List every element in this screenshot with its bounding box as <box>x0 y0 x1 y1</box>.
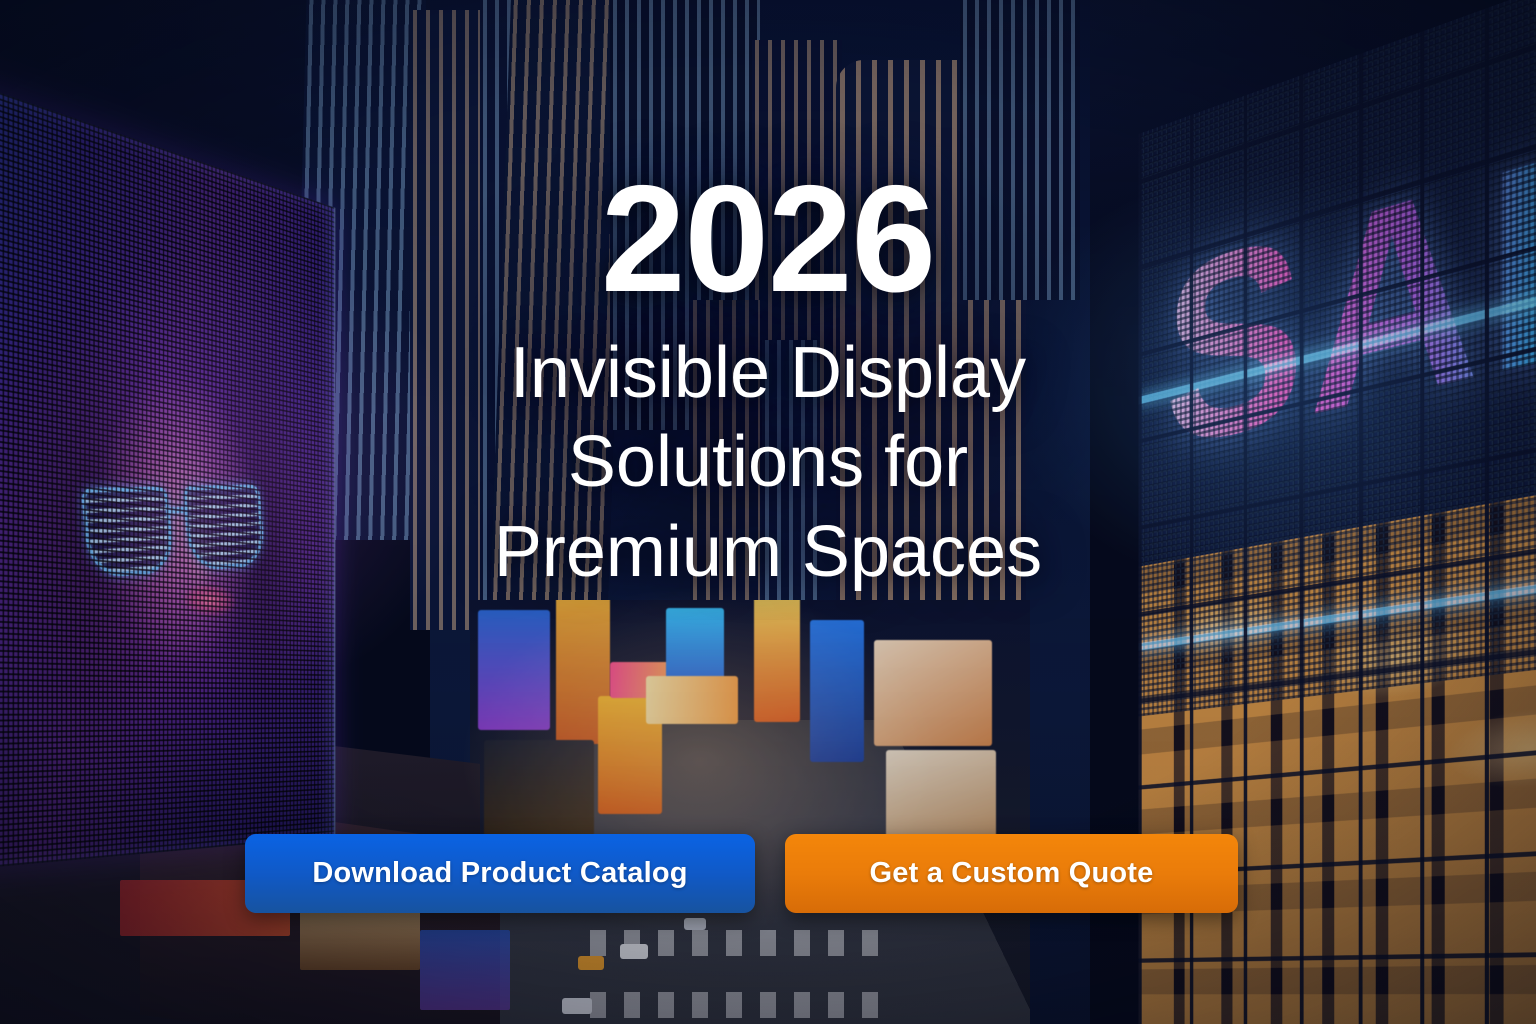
get-custom-quote-button[interactable]: Get a Custom Quote <box>785 834 1238 913</box>
download-product-catalog-button[interactable]: Download Product Catalog <box>245 834 755 913</box>
street-ad-panel <box>646 676 738 724</box>
vehicle <box>684 918 706 930</box>
street-ad-panel <box>810 620 864 762</box>
street-ad-panel <box>886 750 996 838</box>
vehicle <box>578 956 604 970</box>
crosswalk <box>590 992 890 1018</box>
skyscraper <box>960 0 1080 300</box>
cta-button-row: Download Product Catalog Get a Custom Qu… <box>245 834 1238 913</box>
headline-line-2: Solutions for <box>494 418 1042 507</box>
hero-year: 2026 <box>601 163 935 315</box>
street-ad-panel <box>478 610 550 730</box>
page-title: Invisible Display Solutions for Premium … <box>494 329 1042 597</box>
left-led-billboard <box>0 72 335 872</box>
hero-banner: SALE 2026 Invisible Display Solutions fo… <box>0 0 1536 1024</box>
billboard-frame <box>0 72 335 872</box>
shop-sign <box>420 930 510 1010</box>
vehicle <box>562 998 592 1014</box>
headline-line-3: Premium Spaces <box>494 508 1042 597</box>
street-ad-panel <box>874 640 992 746</box>
vehicle <box>620 944 648 959</box>
storefront-window <box>484 740 594 836</box>
headline-line-1: Invisible Display <box>494 329 1042 418</box>
city-street <box>470 600 1030 1024</box>
street-ad-panel <box>754 600 800 722</box>
